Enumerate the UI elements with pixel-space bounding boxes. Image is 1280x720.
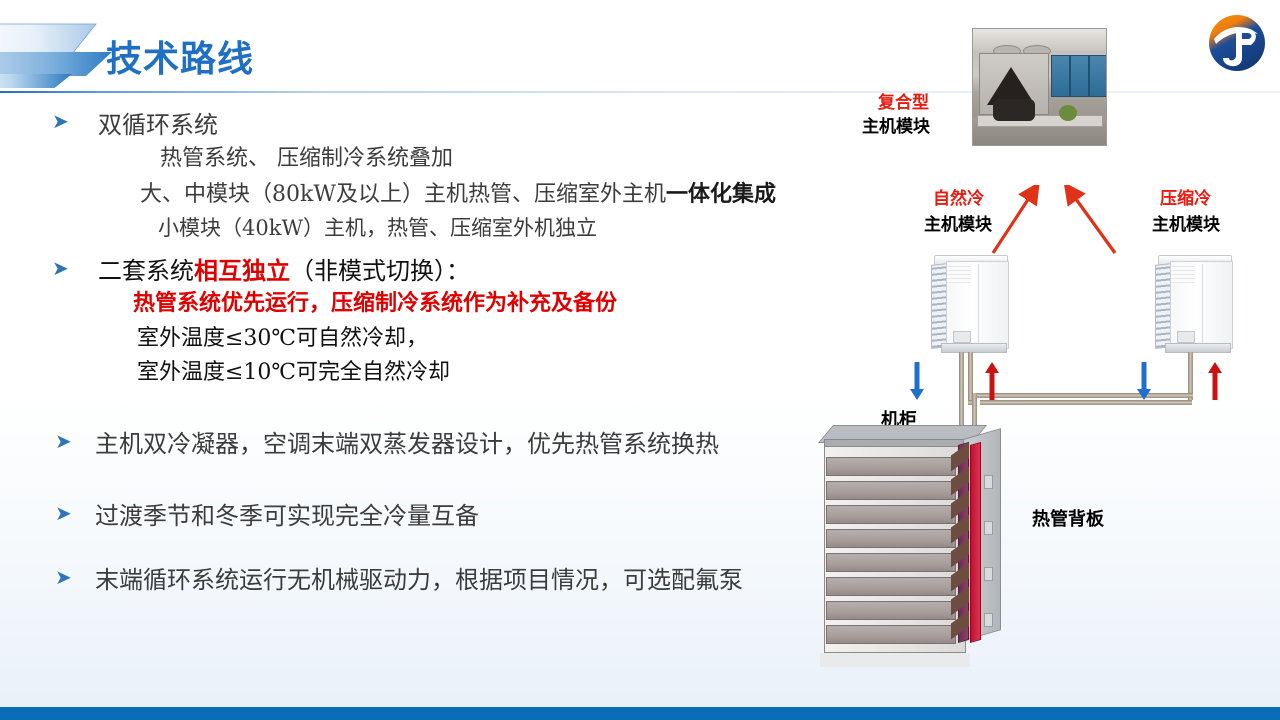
flow-arrow-up-left: [985, 362, 999, 400]
label-composite-black: 主机模块: [862, 112, 930, 137]
bullet-2-line-4: 室外温度≤10℃可完全自然冷却: [137, 354, 450, 386]
rack-shelf: [826, 481, 956, 500]
bullet-1-line-2: 热管系统、 压缩制冷系统叠加: [160, 140, 453, 172]
flow-arrow-down-left: [910, 362, 924, 400]
rack-shelf: [826, 577, 956, 596]
bullet-1-line-1: 双循环系统: [98, 105, 218, 140]
label-natural-black: 主机模块: [924, 210, 992, 235]
cabinet-connector: [984, 567, 993, 581]
bullet-marker-1: ➤: [52, 112, 69, 132]
bullet-1-line-4: 小模块（40kW）主机，热管、压缩室外机独立: [158, 212, 597, 242]
bullet-2-pre: 二套系统: [98, 257, 194, 285]
cabinet-connector: [984, 613, 993, 627]
label-composite-red: 复合型: [878, 88, 929, 113]
flow-arrow-down-right: [1137, 362, 1151, 400]
label-compress-red: 压缩冷: [1160, 184, 1211, 209]
cabinet-connector: [984, 475, 993, 489]
label-heatpipe-backplate: 热管背板: [1032, 505, 1104, 531]
rack-shelf: [826, 457, 956, 476]
bullet-1-line-3: 大、中模块（80kW及以上）主机热管、压缩室外主机一体化集成: [140, 176, 776, 208]
outdoor-unit-natural: [931, 255, 1009, 355]
bullet-marker-2: ➤: [52, 259, 69, 279]
bullet-2-post: （非模式切换）：: [290, 257, 470, 285]
label-compress-black: 主机模块: [1152, 210, 1220, 235]
bullet-2-red-emphasis: 相互独立: [194, 256, 290, 285]
rack-shelf: [826, 553, 956, 572]
rack-shelf: [826, 529, 956, 548]
system-diagram: 复合型 主机模块 自然冷 主机模块 压缩冷 主机模块: [800, 0, 1280, 720]
bullet-5-line-1: 末端循环系统运行无机械驱动力，根据项目情况，可选配氟泵: [95, 560, 743, 595]
bullet-1-line-3-bold: 一体化集成: [666, 181, 776, 207]
pipe-right-horizontal-lower: [980, 400, 1192, 405]
outdoor-unit-compression: [1155, 255, 1233, 355]
rack-shelf: [826, 505, 956, 524]
bullet-4-line-1: 过渡季节和冬季可实现完全冷量互备: [95, 496, 479, 531]
bullet-marker-3: ➤: [55, 432, 72, 452]
flow-arrow-up-right: [1208, 362, 1222, 400]
bullet-2-line-1: 二套系统相互独立（非模式切换）：: [98, 251, 470, 286]
cabinet-connector: [984, 521, 993, 535]
heatpipe-panel-red: [970, 442, 981, 643]
converging-red-arrows: [985, 185, 1130, 260]
bullet-1-line-3-plain: 大、中模块（80kW及以上）主机热管、压缩室外主机: [140, 182, 666, 207]
bullet-2-line-3: 室外温度≤30℃可自然冷却，: [137, 320, 428, 352]
bullet-2-line-2-red: 热管系统优先运行，压缩制冷系统作为补充及备份: [133, 285, 617, 317]
content-body: ➤ 双循环系统 热管系统、 压缩制冷系统叠加 大、中模块（80kW及以上）主机热…: [0, 0, 860, 620]
slide-root: 技术路线 ➤ 双循环系统 热管系统、 压缩制冷系统叠加 大、中模块（80kW及以…: [0, 0, 1280, 720]
bullet-marker-5: ➤: [55, 568, 72, 588]
bullet-3-line-1: 主机双冷凝器，空调末端双蒸发器设计，优先热管系统换热: [95, 424, 719, 459]
composite-chiller-photo: [972, 28, 1107, 146]
server-cabinet: [818, 425, 1018, 670]
footer-accent-bar: [0, 707, 1280, 720]
label-natural-red: 自然冷: [933, 184, 984, 209]
rack-shelf: [826, 625, 956, 644]
bullet-marker-4: ➤: [55, 504, 72, 524]
rack-shelf: [826, 601, 956, 620]
pipe-right-horizontal-upper: [972, 393, 1193, 398]
